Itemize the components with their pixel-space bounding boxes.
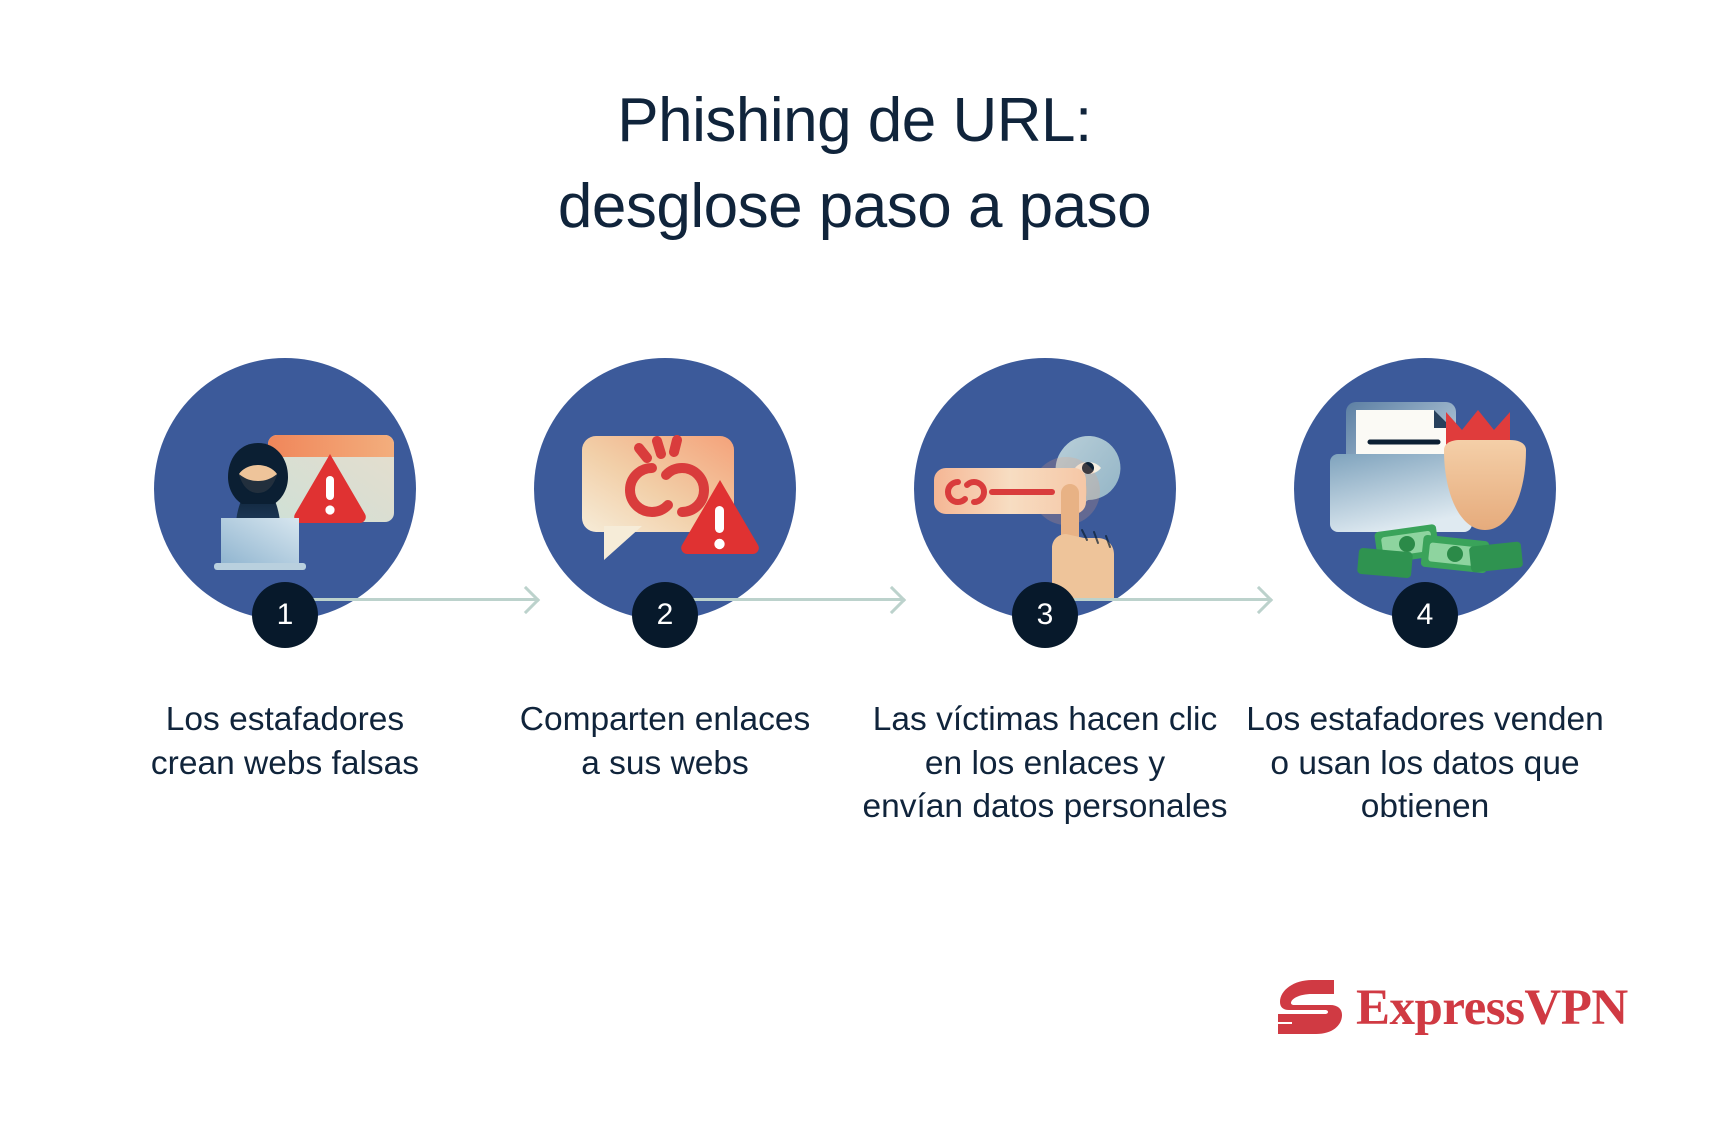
caption-line: a sus webs <box>465 742 865 786</box>
caption-line: Comparten enlaces <box>465 698 865 742</box>
step-1-badge: 1 <box>252 582 318 648</box>
step-4: 4 Los estafadores venden o usan los dato… <box>1235 358 1615 829</box>
step-2-icon-group <box>534 358 796 620</box>
step-4-illustration <box>1294 358 1556 620</box>
arrow-head <box>512 586 540 614</box>
caption-line: obtienen <box>1225 785 1625 829</box>
caption-line: Los estafadores venden <box>1225 698 1625 742</box>
caption-line: crean webs falsas <box>85 742 485 786</box>
step-2: 2 Comparten enlaces a sus webs <box>475 358 855 785</box>
caption-line: Las víctimas hacen clic <box>845 698 1245 742</box>
step-1-icon-group <box>154 358 416 620</box>
step-2-illustration <box>534 358 796 620</box>
step-3-illustration <box>914 358 1176 620</box>
arrow-shaft <box>664 598 902 601</box>
arrow-step-1-to-2 <box>296 587 536 611</box>
expressvpn-e-mark <box>1276 978 1342 1038</box>
step-4-caption: Los estafadores venden o usan los datos … <box>1225 698 1625 829</box>
caption-line: envían datos personales <box>845 785 1245 829</box>
money-stack-icon <box>1357 524 1523 578</box>
step-3-caption: Las víctimas hacen clic en los enlaces y… <box>845 698 1245 829</box>
step-3-badge: 3 <box>1012 582 1078 648</box>
step-3-icon-group <box>914 358 1176 620</box>
step-4-badge: 4 <box>1392 582 1458 648</box>
arrow-head <box>1245 586 1273 614</box>
step-1: 1 Los estafadores crean webs falsas <box>95 358 475 785</box>
page-title: Phishing de URL: desglose paso a paso <box>0 78 1709 249</box>
step-4-icon-group <box>1294 358 1556 620</box>
arrow-shaft <box>296 598 536 601</box>
arrow-head <box>878 586 906 614</box>
arrow-step-2-to-3 <box>664 587 902 611</box>
page-title-line-2: desglose paso a paso <box>0 164 1709 250</box>
step-1-caption: Los estafadores crean webs falsas <box>85 698 485 785</box>
caption-line: en los enlaces y <box>845 742 1245 786</box>
laptop-icon <box>214 518 306 570</box>
expressvpn-logo: ExpressVPN <box>1276 978 1628 1038</box>
expressvpn-wordmark: ExpressVPN <box>1356 979 1628 1037</box>
page-title-line-1: Phishing de URL: <box>0 78 1709 164</box>
step-1-illustration <box>154 358 416 620</box>
step-2-caption: Comparten enlaces a sus webs <box>465 698 865 785</box>
caption-line: Los estafadores <box>85 698 485 742</box>
step-2-badge: 2 <box>632 582 698 648</box>
caption-line: o usan los datos que <box>1225 742 1625 786</box>
